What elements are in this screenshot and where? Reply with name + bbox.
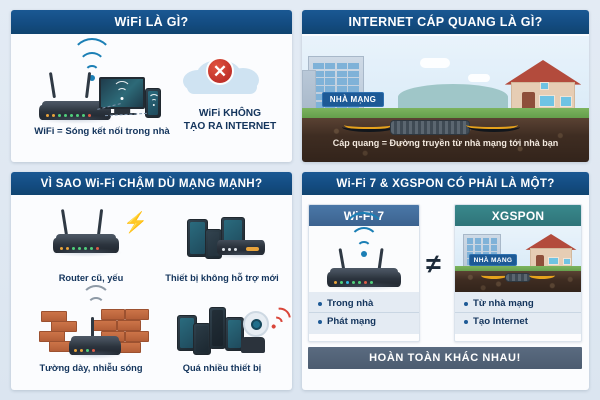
panel-body-wifi-la-gi: WiFi = Sóng kết nối trong nhà ✕ WiFi KHÔ… <box>11 34 292 162</box>
isp-label-nha-mang: NHÀ MẠNG <box>322 92 384 107</box>
card-title-xgspon: XGSPON <box>455 205 581 226</box>
fiber-scene: NHÀ MẠNG Cáp quang = Đường truyền từ nhà… <box>302 36 589 162</box>
cause-label: Tường dày, nhiễu sóng <box>27 363 155 373</box>
hill-decor <box>398 84 508 110</box>
fiber-cable-left-dark <box>342 122 396 132</box>
cloud-caption-line2: TẠO RA INTERNET <box>166 121 292 132</box>
smartphone-icon <box>145 88 161 118</box>
wifi-router-icon <box>309 226 419 292</box>
panel-wifi7-vs-xgspon: Wi-Fi 7 & XGSPON CÓ PHẢI LÀ MỘT? Wi-Fi 7 <box>302 172 589 390</box>
wifi-definition-caption: WiFi = Sóng kết nối trong nhà <box>17 126 187 137</box>
cloud-decor-3 <box>468 74 490 82</box>
panel-body-internet-cap-quang: NHÀ MẠNG Cáp quang = Đường truyền từ nhà… <box>302 34 589 162</box>
wifi-signal-weak-icon <box>79 297 113 315</box>
card-wifi7[interactable]: Wi-Fi 7 <box>308 204 420 342</box>
card-bullets-wifi7: Trong nhà Phát mạng <box>309 292 419 334</box>
panel-title-wifi-la-gi: WiFi LÀ GÌ? <box>11 10 292 34</box>
card-bullet: Tạo Internet <box>455 312 581 330</box>
cause-old-devices: Thiết bị không hỗ trợ mới <box>155 205 289 291</box>
brick-wall-icon <box>27 297 155 361</box>
panel-body-vi-sao-wifi-cham: ⚡ Router cũ, yếu <box>11 195 292 390</box>
fiber-conduit-icon <box>390 120 470 135</box>
cause-label: Router cũ, yếu <box>27 273 155 283</box>
isp-label-nha-mang-small: NHÀ MẠNG <box>469 254 517 266</box>
cause-label: Thiết bị không hỗ trợ mới <box>155 273 289 283</box>
panel-wifi-la-gi: WiFi LÀ GÌ? <box>11 10 292 162</box>
card-bullet: Từ nhà mạng <box>455 295 581 312</box>
fiber-definition-caption: Cáp quang = Đường truyền từ nhà mạng tới… <box>306 138 585 148</box>
error-x-icon: ✕ <box>206 57 234 85</box>
panel-vi-sao-wifi-cham: VÌ SAO Wi-Fi CHẬM DÙ MẠNG MẠNH? <box>11 172 292 390</box>
old-devices-icon <box>155 205 289 271</box>
cloud-decor-2 <box>420 58 450 68</box>
not-equal-icon: ≠ <box>426 251 441 278</box>
cause-label: Quá nhiều thiết bị <box>155 363 289 373</box>
cause-too-many-devices: Quá nhiều thiết bị <box>155 297 289 381</box>
cause-thick-walls: Tường dày, nhiễu sóng <box>27 297 155 381</box>
card-bullet: Trong nhà <box>309 295 419 312</box>
card-xgspon[interactable]: XGSPON <box>454 204 582 342</box>
panel-title-wifi7-vs-xgspon: Wi-Fi 7 & XGSPON CÓ PHẢI LÀ MỘT? <box>302 172 589 195</box>
infographic-root: WiFi LÀ GÌ? <box>0 0 600 400</box>
panel-internet-cap-quang: INTERNET CÁP QUANG LÀ GÌ? <box>302 10 589 162</box>
office-building-icon <box>308 56 364 116</box>
fiber-network-icon: NHÀ MẠNG <box>455 226 581 292</box>
panel-title-vi-sao-wifi-cham: VÌ SAO Wi-Fi CHẬM DÙ MẠNG MẠNH? <box>11 172 292 195</box>
router-weak-icon <box>53 233 119 253</box>
fiber-cable-right-dark <box>468 122 520 132</box>
conclusion-banner: HOÀN TOÀN KHÁC NHAU! <box>308 347 582 369</box>
cloud-caption-line1: WiFi KHÔNG <box>171 108 289 119</box>
panel-title-internet-cap-quang: INTERNET CÁP QUANG LÀ GÌ? <box>302 10 589 34</box>
many-devices-icon <box>155 297 289 361</box>
cause-router-old: ⚡ Router cũ, yếu <box>27 205 155 291</box>
wifi-signal-overload-icon <box>264 308 291 334</box>
card-bullet: Phát mạng <box>309 312 419 330</box>
monitor-icon <box>99 77 145 115</box>
panel-body-wifi7-vs-xgspon: Wi-Fi 7 <box>302 195 589 390</box>
card-bullets-xgspon: Từ nhà mạng Tạo Internet <box>455 292 581 334</box>
